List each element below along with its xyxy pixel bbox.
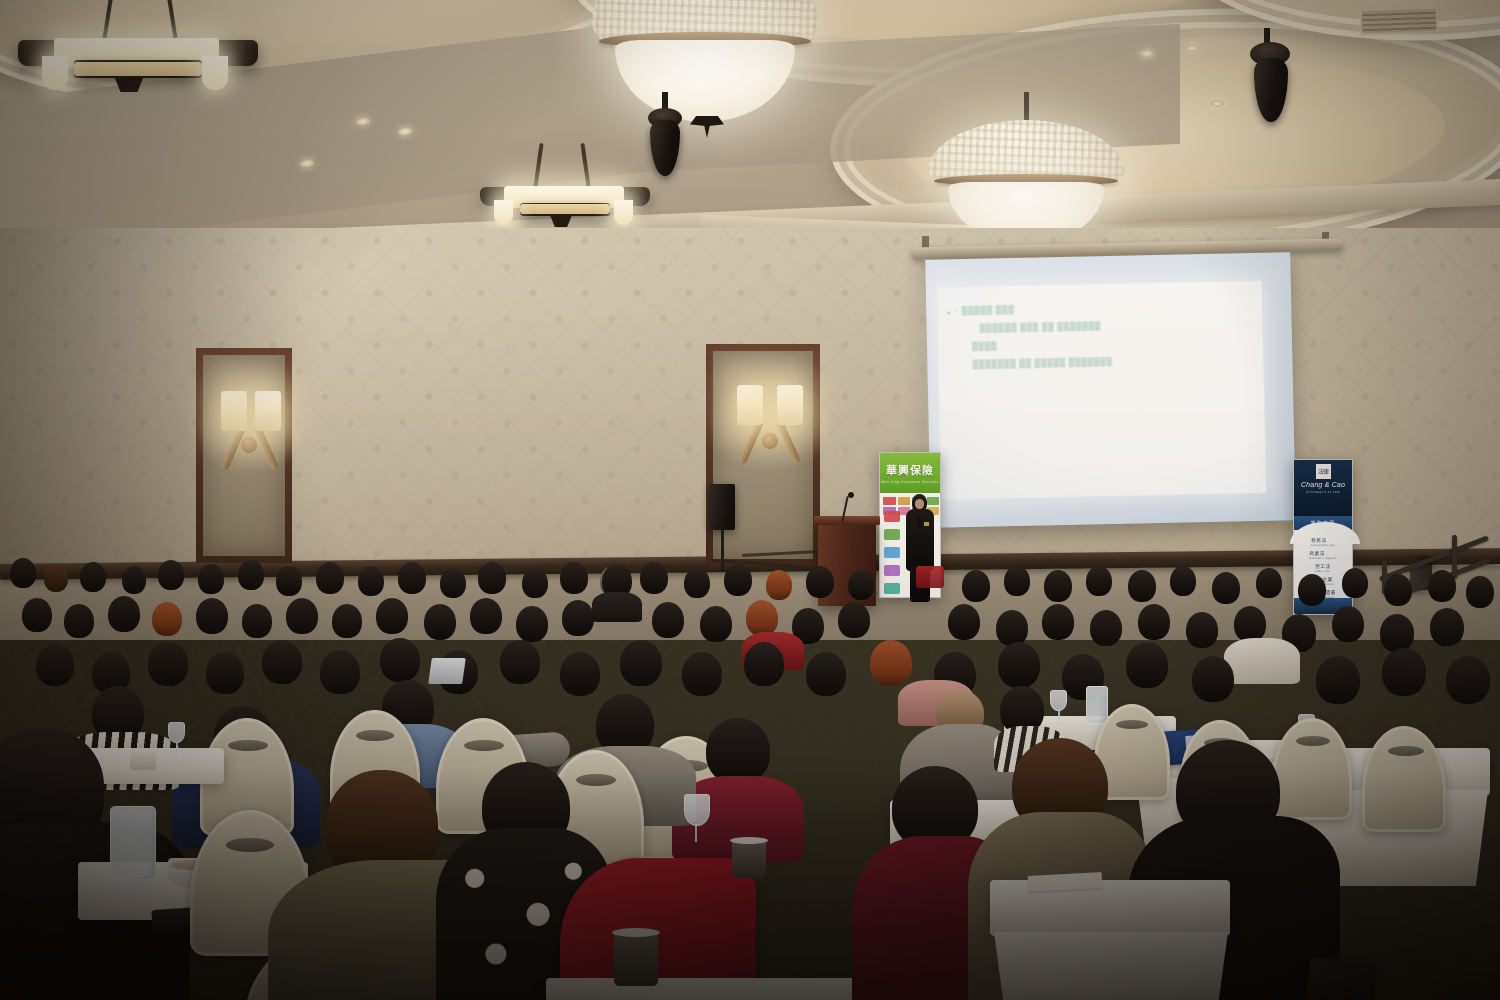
attendee-head xyxy=(684,568,710,598)
slide-line-4: ███████ ██ █████ ███████ xyxy=(972,357,1112,369)
attendee-head xyxy=(1380,614,1414,652)
attendee-head xyxy=(1466,576,1494,608)
sconce-backplate xyxy=(762,433,778,449)
pendant-corner-light xyxy=(42,56,68,90)
coffee-cup xyxy=(614,932,658,986)
attendee-head xyxy=(262,640,302,684)
coffee-cup xyxy=(130,752,156,770)
banner-icon xyxy=(884,511,900,522)
attendee-head xyxy=(1430,608,1464,646)
attendee-head xyxy=(64,604,94,638)
attendee-head xyxy=(1234,606,1266,642)
podium-microphone-head xyxy=(848,492,854,498)
banner-navy-header: 法律 Chang & Cao ATTORNEYS AT LAW xyxy=(1294,460,1352,516)
attendee-head xyxy=(1342,568,1368,598)
attendee-shoulders xyxy=(1224,638,1300,684)
chair-keyhole-slot xyxy=(226,838,274,852)
attendee-head xyxy=(332,604,362,638)
sconce-shade-left xyxy=(221,391,247,431)
attendee-head xyxy=(848,570,874,600)
attendee-head xyxy=(1316,656,1360,704)
goblet-stem xyxy=(176,742,178,755)
attendee-head xyxy=(1212,572,1240,604)
law-firm-logo-icon: 法律 xyxy=(1316,464,1331,479)
attendee-head xyxy=(640,562,668,594)
pendant-inner-glow xyxy=(520,204,610,214)
banner-icon xyxy=(883,497,896,505)
attendee-head xyxy=(522,568,548,598)
pendant-corner-light xyxy=(202,56,228,90)
coffee-cup xyxy=(732,840,766,878)
attendee-head xyxy=(500,640,540,684)
attendee-head xyxy=(1428,570,1456,602)
attendee-head xyxy=(1126,642,1168,688)
chair-keyhole-slot xyxy=(356,730,394,741)
attendee-head xyxy=(838,602,870,638)
sconce-shade-right xyxy=(255,391,281,431)
attendee-head xyxy=(1332,606,1364,642)
attendee-head xyxy=(744,642,784,686)
attendee-head xyxy=(766,570,792,600)
chandelier-stem xyxy=(1024,92,1029,122)
recessed-can-light xyxy=(1210,100,1224,107)
attendee-head xyxy=(1382,648,1426,696)
attendee-head xyxy=(962,570,990,602)
attendee-head xyxy=(516,606,548,642)
attendee-head xyxy=(198,564,224,594)
slide-bullet-icon xyxy=(947,311,950,314)
banquet-chair xyxy=(1362,726,1446,832)
attendee-head xyxy=(870,640,912,686)
bowl-chandelier-center xyxy=(592,0,818,145)
attendee-head xyxy=(724,564,752,596)
attendee-head xyxy=(1138,604,1170,640)
pendant-finial xyxy=(550,215,572,227)
pa-speaker-left xyxy=(709,484,735,530)
attendee-head xyxy=(398,562,426,594)
attendee-head xyxy=(148,642,188,686)
sconce-right xyxy=(735,397,805,493)
projected-slide: • █████ ███ ██████ ███ ██ ███████ ████ █… xyxy=(937,281,1266,500)
projection-screen: • █████ ███ ██████ ███ ██ ███████ ████ █… xyxy=(925,252,1296,528)
attendee-shoulders xyxy=(592,592,642,622)
attendee-head xyxy=(560,652,600,696)
attendee-head xyxy=(1128,570,1156,602)
recessed-can-light xyxy=(1140,50,1154,57)
attendee-head xyxy=(206,652,244,694)
chair-keyhole-slot xyxy=(576,774,616,786)
attendee-head xyxy=(560,562,588,594)
chair-keyhole-slot xyxy=(464,740,504,751)
attendee-head xyxy=(700,606,732,642)
podium-top-surface xyxy=(814,516,880,525)
pendant-inner-glow xyxy=(74,62,202,76)
attendee-head xyxy=(1044,570,1072,602)
attendee-head xyxy=(1256,568,1282,598)
pendant-corner-light xyxy=(494,200,513,225)
attendee-head xyxy=(10,558,36,588)
attendee-head xyxy=(996,610,1028,646)
pendant-corner-light xyxy=(614,200,633,225)
law-firm-tagline: ATTORNEYS AT LAW xyxy=(1306,490,1340,494)
sconce-shade-left xyxy=(737,385,763,425)
attendee-head xyxy=(22,598,52,632)
attendee-head xyxy=(478,562,506,594)
attendee-head xyxy=(44,564,68,592)
attendee-head xyxy=(1042,604,1074,640)
alcove-left xyxy=(196,348,292,563)
presenter-face xyxy=(915,499,924,509)
attendee-head xyxy=(424,604,456,640)
attendee-head xyxy=(376,598,408,634)
recessed-can-light xyxy=(1185,45,1199,52)
attendee-head xyxy=(1384,574,1412,606)
attendee-head xyxy=(948,604,980,640)
attendee-head xyxy=(1086,566,1112,596)
rectangular-deco-pendant-left xyxy=(18,0,258,140)
chair-keyhole-slot xyxy=(1296,736,1330,746)
attendee-head xyxy=(320,650,360,694)
attendee-head xyxy=(806,652,846,696)
attendee-head xyxy=(470,598,502,634)
sconce-glow xyxy=(195,385,305,475)
slide-line-1: • █████ ███ xyxy=(955,305,1014,315)
attendee-head xyxy=(122,566,146,594)
attendee-head xyxy=(806,566,834,598)
pendant-finial xyxy=(114,76,144,92)
attendee-head xyxy=(706,718,770,784)
attendee-head xyxy=(1192,656,1234,702)
slide-line-2: ██████ ███ ██ ███████ xyxy=(980,321,1101,333)
sconce-shade-right xyxy=(777,385,803,425)
attendee-head xyxy=(358,566,384,596)
slide-line-3: ████ xyxy=(972,341,997,351)
attendee-head xyxy=(286,598,318,634)
coffee-cup-lid xyxy=(730,837,768,844)
attendee-head xyxy=(1446,656,1490,704)
chair-keyhole-slot xyxy=(228,740,268,751)
water-pitcher xyxy=(110,806,156,880)
attendee-head xyxy=(316,562,344,594)
attendee-head xyxy=(440,568,466,598)
goblet-foot xyxy=(1053,722,1066,725)
banner-green-title-en: Wah Hing Insurance Services xyxy=(881,480,939,484)
audience-area xyxy=(0,540,1500,1000)
water-pitcher xyxy=(1086,686,1108,724)
attendee-head xyxy=(1186,612,1218,648)
attendee-head xyxy=(998,642,1040,688)
ballroom-seminar-photo: • █████ ███ ██████ ███ ██ ███████ ████ █… xyxy=(0,0,1500,1000)
chair-keyhole-slot xyxy=(1116,720,1148,729)
name-badge xyxy=(924,522,929,526)
attendee-head xyxy=(562,600,594,636)
chair-keyhole-slot xyxy=(1388,746,1424,756)
attendee-head xyxy=(242,604,272,638)
hvac-vent xyxy=(1360,7,1439,36)
attendee-head xyxy=(196,598,228,634)
chandelier-lower-bowl xyxy=(615,40,796,122)
law-firm-name: Chang & Cao xyxy=(1301,482,1345,489)
wine-goblet xyxy=(684,794,710,826)
chandelier-finial xyxy=(690,116,724,138)
attendee-head xyxy=(1004,566,1030,596)
attendee-head xyxy=(620,640,662,686)
attendee-head xyxy=(746,600,778,636)
sconce-left xyxy=(219,403,279,493)
attendee-head xyxy=(108,596,140,632)
attendee-head xyxy=(380,638,420,682)
sconce-backplate xyxy=(241,437,257,453)
attendee-head xyxy=(36,644,74,686)
laptop xyxy=(428,658,466,684)
attendee-head xyxy=(276,566,302,596)
banquet-chair xyxy=(1272,718,1352,820)
floor-bag xyxy=(1306,957,1376,1000)
attendee-head xyxy=(1090,610,1122,646)
wine-goblet xyxy=(1050,690,1067,711)
attendee-head xyxy=(238,560,264,590)
attendee-head xyxy=(1298,574,1326,606)
banner-green-header: 華興保險 Wah Hing Insurance Services xyxy=(880,453,940,493)
banner-green-title-cn: 華興保險 xyxy=(886,462,934,478)
goblet-stem xyxy=(695,824,697,842)
attendee-head xyxy=(682,652,722,696)
banner-icon xyxy=(884,529,900,540)
wine-goblet xyxy=(168,722,185,743)
attendee-head xyxy=(652,602,684,638)
attendee-head xyxy=(152,602,182,636)
sconce-glow xyxy=(707,377,833,473)
attendee-head xyxy=(80,562,106,592)
attendee-head xyxy=(158,560,184,590)
attendee-head xyxy=(1170,566,1196,596)
coffee-cup-lid xyxy=(612,928,660,937)
